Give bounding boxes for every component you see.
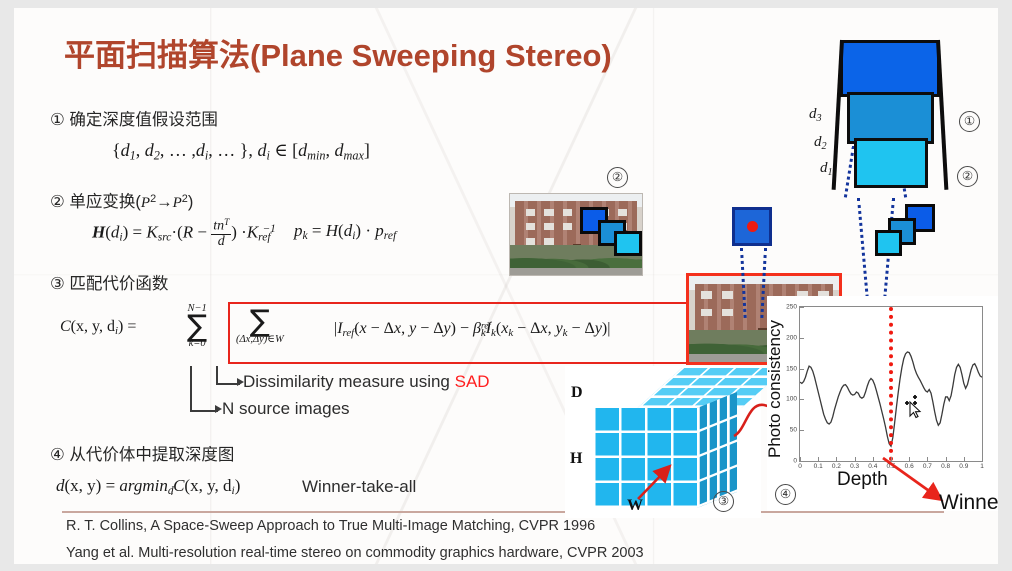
step-2-marker: ② — [50, 193, 65, 211]
chart-x-tickmark — [818, 457, 819, 461]
chart-y-tickmark — [800, 430, 804, 431]
chart-x-tickmark — [800, 457, 801, 461]
slide-canvas: 平面扫描算法(Plane Sweeping Stereo) ① 确定深度值假设范… — [14, 8, 998, 564]
projective-space-left: P — [141, 195, 150, 211]
page-title: 平面扫描算法(Plane Sweeping Stereo) — [64, 30, 612, 75]
annotation-sad-metric: SAD — [455, 372, 490, 391]
reference-2: Yang et al. Multi-resolution real-time s… — [66, 545, 644, 561]
warp-quad-right-near — [875, 230, 902, 256]
chart-y-tick: 150 — [786, 365, 797, 372]
chart-y-tickmark — [800, 338, 804, 339]
chart-x-tick: 0 — [798, 463, 802, 470]
depth-plane-d1 — [854, 138, 928, 188]
chart-x-tickmark — [855, 457, 856, 461]
step-4-label: 从代价体中提取深度图 — [69, 446, 234, 464]
chart-y-tick: 200 — [786, 334, 797, 341]
chart-plot-area: 05010015020025000.10.20.30.40.50.60.70.8… — [799, 306, 983, 462]
formula-cost-lhs: C(x, y, di) = — [60, 318, 136, 337]
sigma-glyph-outer: ∑ — [187, 315, 207, 340]
step-4: ④ 从代价体中提取深度图 — [50, 441, 234, 465]
sum-outer-lower: k=0 — [187, 339, 207, 350]
chart-x-tickmark — [873, 457, 874, 461]
annotation-dissimilarity: Dissimilarity measure using SAD — [243, 372, 490, 392]
step-3: ③ 匹配代价函数 — [50, 270, 168, 294]
chart-y-tick: 250 — [786, 304, 797, 311]
summation-outer: N−1 ∑ k=0 — [187, 304, 207, 350]
step-1-marker: ① — [50, 111, 65, 129]
winner-take-all-label: Winner-take-all — [302, 477, 416, 497]
chart-x-tickmark — [836, 457, 837, 461]
chart-y-tick: 100 — [786, 396, 797, 403]
step-3-label: 匹配代价函数 — [69, 275, 168, 293]
cube-right-face — [697, 392, 737, 508]
step-2-label: 单应变换( — [69, 193, 141, 211]
reference-1: R. T. Collins, A Space-Sweep Approach to… — [66, 518, 595, 534]
photo-consistency-figure: Photo consistency 05010015020025000.10.2… — [767, 296, 998, 511]
formula-cost-body: ||IIref(x − Δx, y − Δy) − βrefkIk(xk − Δ… — [334, 320, 610, 339]
formula-argmin: d(x, y) = argmindiC(x, y, di) — [56, 476, 240, 497]
annotation-n-source-images: N source images — [222, 399, 350, 419]
step-3-marker: ③ — [50, 275, 65, 293]
reference-point-marker — [747, 221, 758, 232]
chart-y-tick: 0 — [793, 458, 797, 465]
cube-label-height: H — [570, 450, 582, 468]
chart-y-tick: 50 — [790, 427, 797, 434]
depth-label-d1: d1 — [820, 160, 833, 178]
chart-y-tickmark — [800, 399, 804, 400]
formula-point-transfer: pk = H(di) · pref — [294, 221, 396, 242]
depth-plane-d2 — [847, 92, 934, 144]
chart-winner-vline — [889, 307, 893, 461]
callout-2-right: ② — [957, 166, 978, 187]
cost-volume-figure: D H W ③ — [565, 366, 761, 518]
callout-1: ① — [959, 111, 980, 132]
mouse-cursor-icon — [903, 395, 925, 419]
warp-quad-left-near — [614, 231, 642, 256]
step-4-marker: ④ — [50, 446, 65, 464]
chart-y-axis-label: Photo consistency — [765, 308, 785, 458]
frustum-rail-left — [832, 40, 844, 190]
callout-2-left: ② — [607, 167, 628, 188]
reference-divider — [62, 511, 944, 513]
chart-x-tickmark — [982, 457, 983, 461]
paren-close: ) — [188, 193, 194, 211]
chart-y-tickmark — [800, 461, 804, 462]
projective-space-right: P — [173, 195, 182, 211]
formula-depth-range: {d1, d2, … ,di, … }, di ∈ [dmin, dmax] — [112, 140, 370, 163]
step-1: ① 确定深度值假设范围 — [50, 106, 218, 130]
depth-plane-d3 — [840, 40, 940, 97]
frustum-rail-right — [936, 40, 948, 190]
depth-label-d3: d3 — [809, 106, 822, 124]
arrow-glyph: → — [156, 193, 173, 211]
annotation-elbow-outer — [190, 366, 218, 412]
annotation-arrow-nsource — [215, 405, 222, 413]
callout-3: ③ — [713, 491, 734, 512]
formula-homography: H(di) = Ksrc·(R − tnTd) ·Kref−1 — [92, 218, 276, 249]
annotation-dissimilarity-text: Dissimilarity measure using — [243, 372, 455, 391]
callout-4: ④ — [775, 484, 796, 505]
winner-label: Winner — [939, 491, 998, 515]
sum-inner-lower: (Δx,Δy)∈W — [236, 335, 284, 346]
sigma-glyph-inner: ∑ — [236, 310, 284, 335]
chart-x-tickmark — [964, 457, 965, 461]
cube-label-depth: D — [571, 384, 583, 402]
step-1-label: 确定深度值假设范围 — [69, 111, 218, 129]
chart-x-tick: 0.1 — [814, 463, 823, 470]
step-2: ② 单应变换(P2→P2) — [50, 188, 193, 212]
summation-inner: ∑ (Δx,Δy)∈W — [236, 310, 284, 345]
chart-y-tickmark — [800, 307, 804, 308]
chart-y-tickmark — [800, 369, 804, 370]
cube-inner-arrow-icon — [635, 461, 683, 503]
depth-label-d2: d2 — [814, 134, 827, 152]
chart-x-tick: 1 — [980, 463, 984, 470]
reference-patch-quad — [732, 207, 772, 246]
